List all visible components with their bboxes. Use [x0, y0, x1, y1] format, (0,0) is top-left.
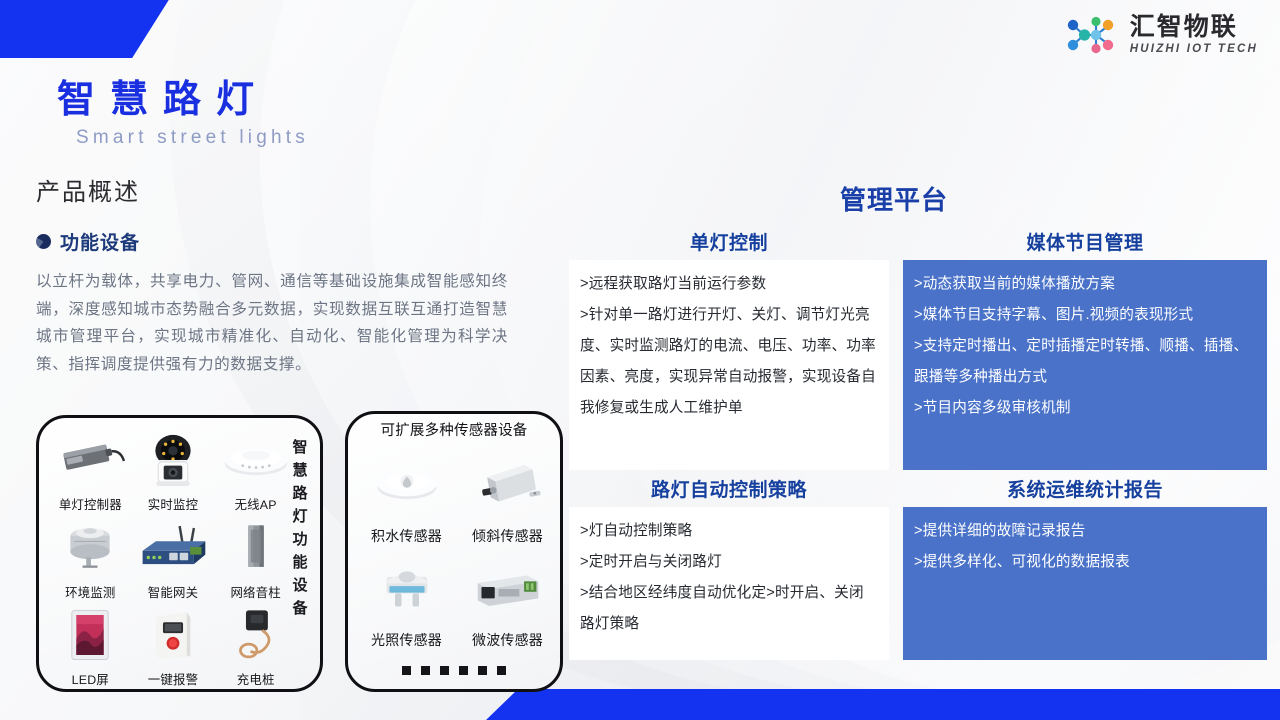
panel-line: >节目内容多级审核机制 — [914, 393, 1256, 424]
panel-line: >结合地区经纬度自动优化定>时开启、关闭路灯策略 — [580, 578, 878, 640]
dot — [421, 666, 430, 675]
panel-title: 单灯控制 — [569, 228, 889, 255]
sensor-item[interactable]: 光照传感器 — [356, 546, 457, 650]
panel-line: >支持定时播出、定时插播定时转播、顺播、插播、跟播等多种播出方式 — [914, 331, 1256, 393]
panel-line: >提供多样化、可视化的数据报表 — [914, 547, 1256, 578]
panel-title: 媒体节目管理 — [903, 228, 1267, 255]
panel-body: >灯自动控制策略 >定时开启与关闭路灯 >结合地区经纬度自动优化定>时开启、关闭… — [569, 507, 889, 660]
sensor-label: 积水传感器 — [371, 526, 442, 546]
lamp-controller-icon — [49, 426, 132, 494]
page-title-cn: 智慧路灯 — [57, 68, 269, 123]
panel-streetlight-auto-control-strategy: 路灯自动控制策略 >灯自动控制策略 >定时开启与关闭路灯 >结合地区经纬度自动优… — [569, 475, 889, 660]
logo-name-en: HUIZHI IOT TECH — [1130, 44, 1258, 56]
panel-body: >动态获取当前的媒体播放方案 >媒体节目支持字幕、图片.视频的表现形式 >支持定… — [903, 260, 1267, 470]
sensor-label: 倾斜传感器 — [472, 526, 543, 546]
panel-line: >远程获取路灯当前运行参数 — [580, 269, 878, 300]
top-left-blue-accent — [0, 0, 170, 58]
panel-body: >远程获取路灯当前运行参数 >针对单一路灯进行开灯、关灯、调节灯光亮度、实时监测… — [569, 260, 889, 470]
device-item[interactable]: 无线AP — [214, 426, 297, 513]
sensor-label: 光照传感器 — [371, 630, 442, 650]
sensor-item[interactable]: 积水传感器 — [356, 442, 457, 546]
panel-line: >提供详细的故障记录报告 — [914, 516, 1256, 547]
overview-paragraph: 以立杆为载体，共享电力、管网、通信等基础设施集成智能感知终端，深度感知城市态势融… — [36, 268, 508, 378]
sensor-grid: 积水传感器 — [356, 442, 558, 650]
sensor-label: 微波传感器 — [472, 630, 543, 650]
device-item[interactable]: LED屏 — [49, 601, 132, 688]
one-key-alarm-icon — [132, 601, 215, 669]
slide-canvas: 汇智物联 HUIZHI IOT TECH 智慧路灯 Smart street l… — [0, 0, 1280, 720]
device-label: 无线AP — [235, 495, 277, 513]
sensor-card-title: 可扩展多种传感器设备 — [348, 419, 560, 440]
device-label: LED屏 — [72, 670, 109, 688]
device-item[interactable]: 实时监控 — [132, 426, 215, 513]
panel-system-ops-statistics-report: 系统运维统计报告 >提供详细的故障记录报告 >提供多样化、可视化的数据报表 — [903, 475, 1267, 660]
cctv-camera-icon — [132, 426, 215, 494]
dot — [478, 666, 487, 675]
sensor-card: 可扩展多种传感器设备 积水传感器 — [345, 411, 563, 692]
environment-monitor-icon — [49, 513, 132, 581]
device-item[interactable]: 智能网关 — [132, 513, 215, 600]
function-device-subheading: 功能设备 — [36, 228, 140, 255]
brand-logo: 汇智物联 HUIZHI IOT TECH — [1064, 14, 1258, 56]
more-sensors-indicator — [348, 666, 560, 675]
device-item[interactable]: 环境监测 — [49, 513, 132, 600]
microwave-sensor-icon — [457, 546, 558, 629]
product-overview-heading: 产品概述 — [36, 172, 140, 207]
device-item[interactable]: 单灯控制器 — [49, 426, 132, 513]
dot — [497, 666, 506, 675]
dot — [459, 666, 468, 675]
dot — [440, 666, 449, 675]
panel-body: >提供详细的故障记录报告 >提供多样化、可视化的数据报表 — [903, 507, 1267, 660]
panel-title: 系统运维统计报告 — [903, 475, 1267, 502]
panel-line: >媒体节目支持字幕、图片.视频的表现形式 — [914, 300, 1256, 331]
device-grid: 单灯控制器 — [49, 426, 297, 688]
device-label: 网络音柱 — [230, 583, 280, 601]
network-speaker-icon — [214, 513, 297, 581]
sensor-item[interactable]: 倾斜传感器 — [457, 442, 558, 546]
device-card: 单灯控制器 — [36, 415, 323, 692]
device-item[interactable]: 充电桩 — [214, 601, 297, 688]
tilt-sensor-icon — [457, 442, 558, 525]
molecule-network-icon — [1064, 14, 1122, 56]
light-sensor-icon — [356, 546, 457, 629]
logo-name-cn: 汇智物联 — [1130, 15, 1238, 40]
sensor-item[interactable]: 微波传感器 — [457, 546, 558, 650]
smart-gateway-icon — [132, 513, 215, 581]
device-label: 一键报警 — [148, 670, 198, 688]
device-item[interactable]: 一键报警 — [132, 601, 215, 688]
device-label: 智能网关 — [148, 583, 198, 601]
dot — [402, 666, 411, 675]
page-title-en: Smart street lights — [76, 127, 309, 149]
led-screen-icon — [49, 601, 132, 669]
panel-media-program-management: 媒体节目管理 >动态获取当前的媒体播放方案 >媒体节目支持字幕、图片.视频的表现… — [903, 228, 1267, 470]
bottom-right-blue-accent — [486, 689, 1280, 720]
wireless-ap-icon — [214, 426, 297, 494]
charging-pile-icon — [214, 601, 297, 669]
panel-line: >动态获取当前的媒体播放方案 — [914, 269, 1256, 300]
panel-line: >定时开启与关闭路灯 — [580, 547, 878, 578]
platform-title: 管理平台 — [840, 180, 948, 217]
function-device-label: 功能设备 — [60, 228, 140, 255]
panel-title: 路灯自动控制策略 — [569, 475, 889, 502]
device-label: 充电桩 — [237, 670, 275, 688]
pie-bullet-icon — [36, 234, 51, 249]
water-sensor-icon — [356, 442, 457, 525]
panel-line: >针对单一路灯进行开灯、关灯、调节灯光亮度、实时监测路灯的电流、电压、功率、功率… — [580, 300, 878, 424]
device-label: 环境监测 — [65, 583, 115, 601]
panel-single-lamp-control: 单灯控制 >远程获取路灯当前运行参数 >针对单一路灯进行开灯、关灯、调节灯光亮度… — [569, 228, 889, 470]
device-item[interactable]: 网络音柱 — [214, 513, 297, 600]
device-label: 单灯控制器 — [59, 495, 122, 513]
device-card-side-label: 智慧路灯功能设备 — [288, 436, 312, 620]
device-label: 实时监控 — [148, 495, 198, 513]
panel-line: >灯自动控制策略 — [580, 516, 878, 547]
